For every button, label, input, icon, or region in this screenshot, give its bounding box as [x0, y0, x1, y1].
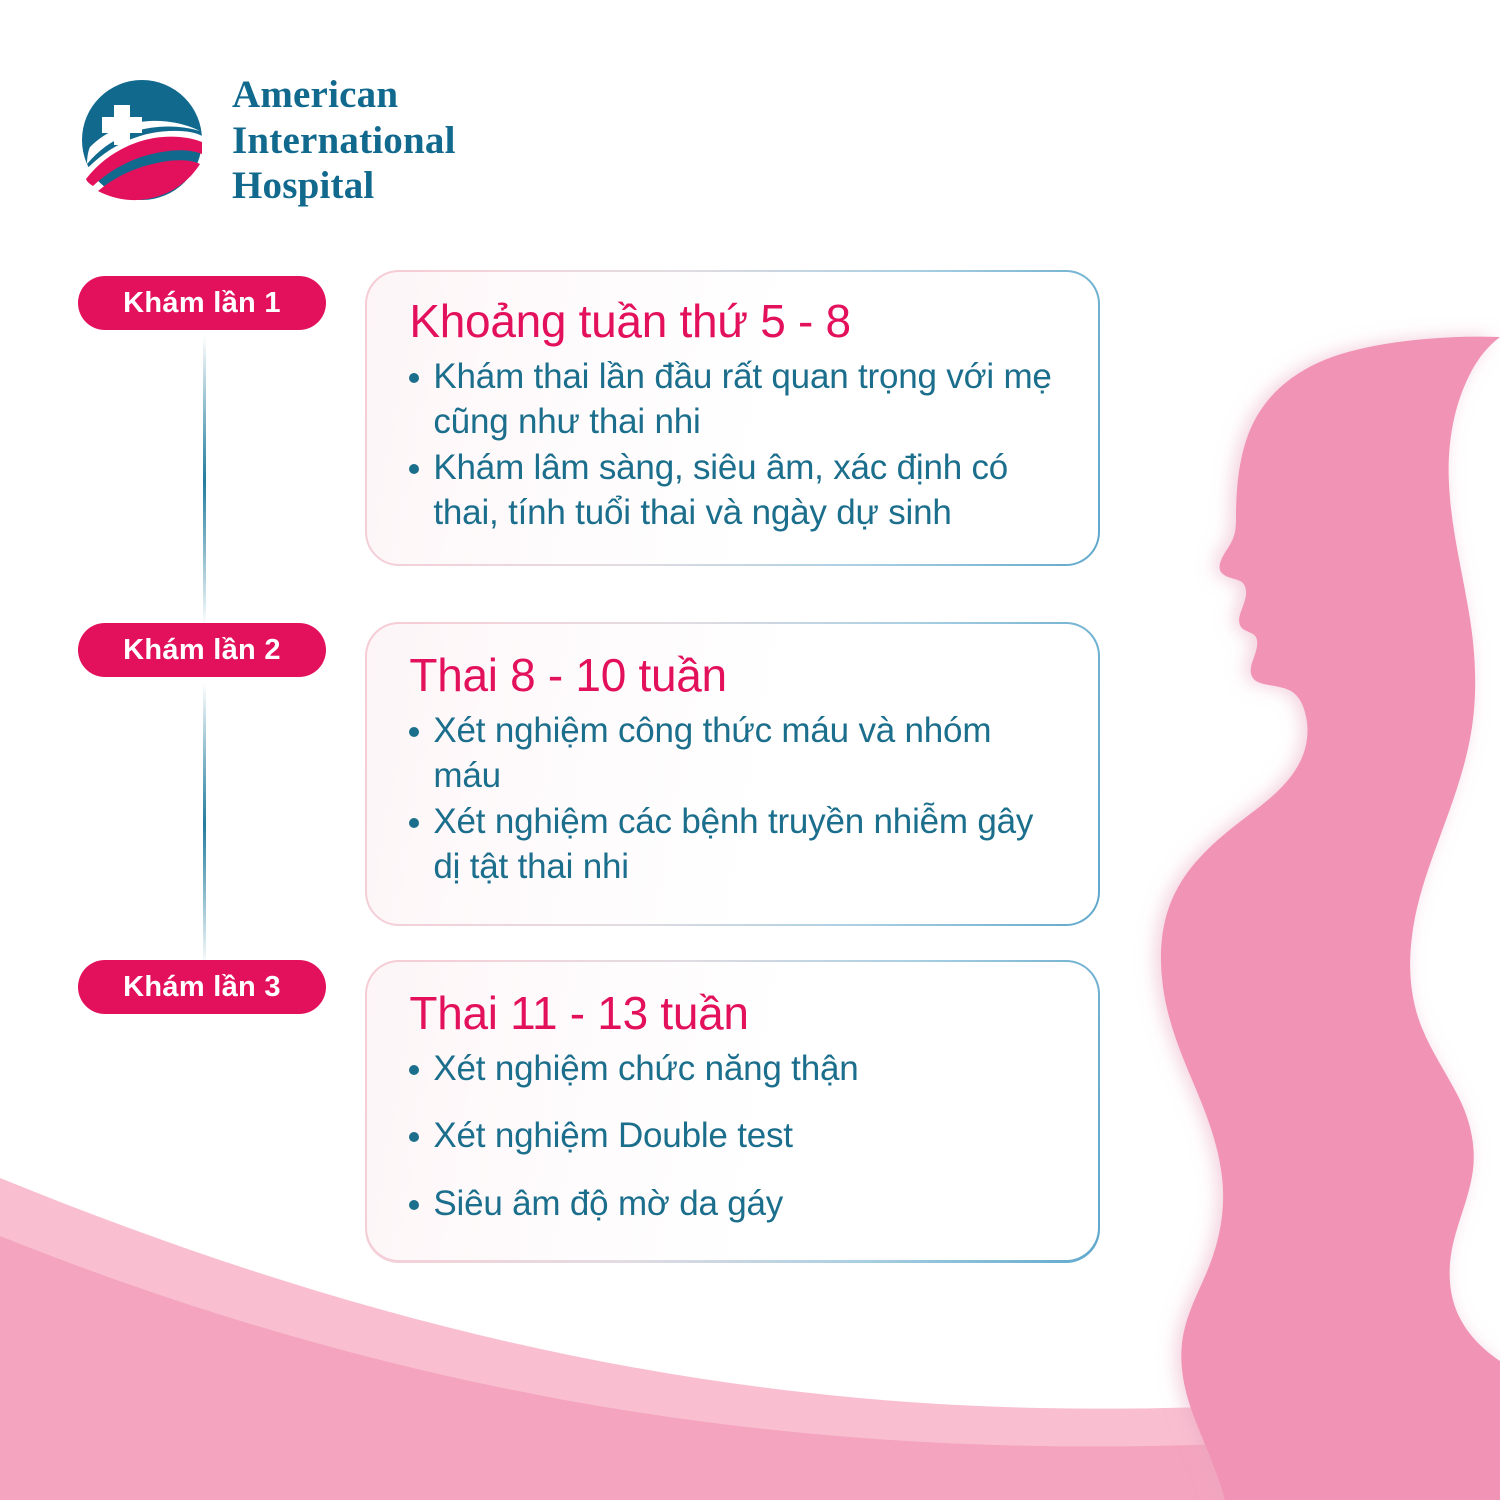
bullet-item: Siêu âm độ mờ da gáy [407, 1181, 1063, 1227]
brand-name: American International Hospital [232, 72, 456, 209]
card-title-2: Thai 8 - 10 tuần [409, 650, 1063, 702]
bullet-item: Xét nghiệm công thức máu và nhóm máu [407, 708, 1063, 799]
connector-line-2 [203, 683, 206, 966]
bullet-item: Khám lâm sàng, siêu âm, xác định có thai… [407, 445, 1063, 536]
silhouette-body-path [1161, 337, 1500, 1500]
infographic-canvas: American International Hospital Khám lần… [0, 0, 1500, 1500]
bullet-item: Xét nghiệm chức năng thận [407, 1046, 1063, 1092]
info-card-3[interactable]: Thai 11 - 13 tuần Xét nghiệm chức năng t… [365, 960, 1100, 1263]
connector-line-1 [203, 336, 206, 626]
bullet-item: Khám thai lần đầu rất quan trọng với mẹ … [407, 354, 1063, 445]
card-title-1: Khoảng tuần thứ 5 - 8 [409, 296, 1063, 348]
wave-pink-shape [0, 1236, 1500, 1500]
brand-header: American International Hospital [78, 72, 456, 209]
card-bullets-1: Khám thai lần đầu rất quan trọng với mẹ … [407, 354, 1063, 536]
info-card-1[interactable]: Khoảng tuần thứ 5 - 8 Khám thai lần đầu … [365, 270, 1100, 566]
info-card-2[interactable]: Thai 8 - 10 tuần Xét nghiệm công thức má… [365, 622, 1100, 926]
step-badge-1[interactable]: Khám lần 1 [78, 276, 326, 330]
bullet-item: Xét nghiệm Double test [407, 1113, 1063, 1159]
card-bullets-2: Xét nghiệm công thức máu và nhóm máu Xét… [407, 708, 1063, 890]
bullet-item: Xét nghiệm các bệnh truyền nhiễm gây dị … [407, 799, 1063, 890]
hospital-logo-icon [78, 76, 206, 204]
step-badge-3[interactable]: Khám lần 3 [78, 960, 326, 1014]
step-badge-2[interactable]: Khám lần 2 [78, 623, 326, 677]
card-title-3: Thai 11 - 13 tuần [409, 988, 1063, 1040]
card-bullets-3: Xét nghiệm chức năng thận Xét nghiệm Dou… [407, 1046, 1063, 1227]
